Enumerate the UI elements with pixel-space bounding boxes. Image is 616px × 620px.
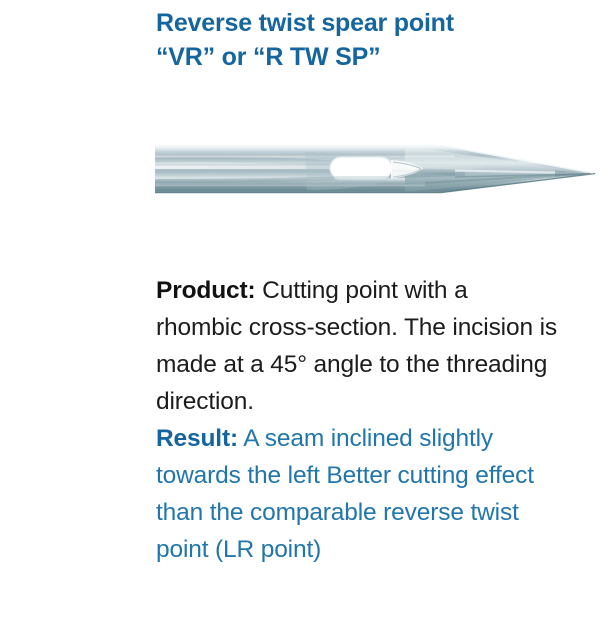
needle-illustration <box>155 140 600 202</box>
product-label: Product: <box>156 277 256 304</box>
description-block: Product: Cutting point with a rhombic cr… <box>156 272 560 568</box>
sewing-needle-image <box>155 140 600 202</box>
result-label: Result: <box>156 425 238 452</box>
page-title-line-2: “VR” or “R TW SP” <box>156 40 586 74</box>
needle-eye <box>330 157 392 180</box>
product-info-card: Reverse twist spear point “VR” or “R TW … <box>0 0 616 620</box>
page-title-line-1: Reverse twist spear point <box>156 6 586 40</box>
page-title: Reverse twist spear point “VR” or “R TW … <box>156 6 586 74</box>
result-paragraph: Result: A seam inclined slightly towards… <box>156 420 560 568</box>
product-paragraph: Product: Cutting point with a rhombic cr… <box>156 272 560 420</box>
